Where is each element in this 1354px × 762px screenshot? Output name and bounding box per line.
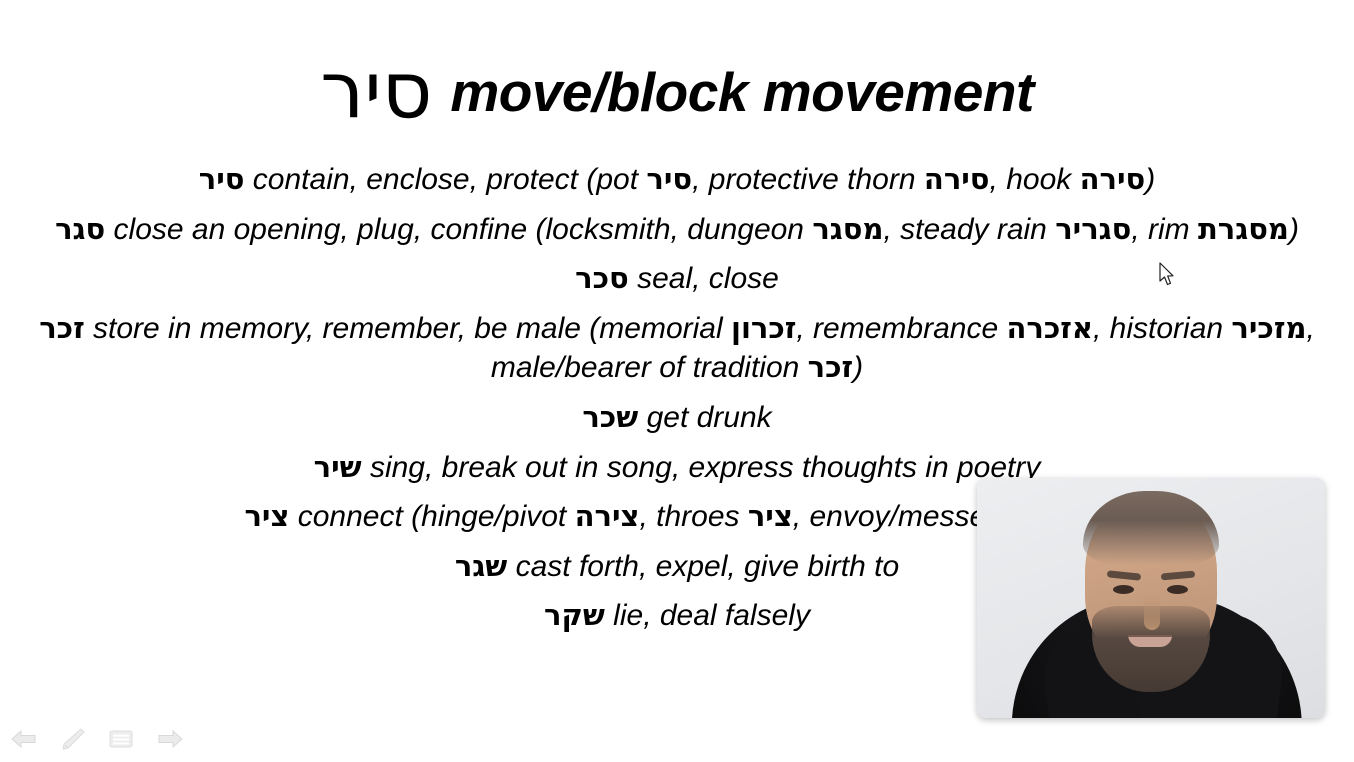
pen-icon	[60, 727, 86, 751]
hebrew-word: סגריר	[1055, 212, 1131, 246]
english-gloss: , throes	[639, 500, 747, 533]
hebrew-word: אזכרה	[1006, 311, 1093, 345]
slide-title: סירmove/block movement	[0, 52, 1354, 130]
hebrew-word: זכרון	[731, 311, 796, 345]
hebrew-word: ציר	[244, 499, 289, 533]
root-entry: זכר store in memory, remember, be male (…	[36, 309, 1318, 388]
root-entry: סיר contain, enclose, protect (pot סיר, …	[36, 160, 1318, 200]
root-entry: שכר get drunk	[36, 398, 1318, 438]
english-gloss: )	[853, 351, 863, 384]
english-gloss: )	[1289, 213, 1299, 246]
english-gloss: , hook	[990, 163, 1080, 196]
hebrew-word: סגר	[55, 212, 105, 246]
hebrew-word: שגר	[455, 549, 507, 583]
english-gloss: cast forth, expel, give birth to	[507, 550, 899, 583]
presentation-slide: סירmove/block movement סיר contain, encl…	[0, 0, 1354, 762]
hebrew-word: סכר	[575, 261, 629, 295]
english-gloss: close an opening, plug, confine (locksmi…	[105, 213, 812, 246]
english-gloss: , historian	[1093, 312, 1231, 345]
presenter-eye-left	[1113, 585, 1134, 594]
english-gloss: )	[1145, 163, 1155, 196]
root-entry: סגר close an opening, plug, confine (loc…	[36, 210, 1318, 250]
root-entry: סכר seal, close	[36, 259, 1318, 299]
english-gloss: , rim	[1131, 213, 1198, 246]
title-hebrew-root: סיר	[320, 46, 432, 136]
right-arrow-icon	[156, 728, 184, 750]
presenter-nose	[1144, 594, 1160, 630]
hebrew-word: סירה	[1080, 162, 1146, 196]
pen-tool-button[interactable]	[60, 726, 86, 752]
hebrew-word: שקר	[544, 598, 605, 632]
hebrew-word: מסגר	[812, 212, 883, 246]
previous-slide-button[interactable]	[10, 726, 38, 752]
hebrew-word: ציר	[748, 499, 793, 533]
left-arrow-icon	[10, 728, 38, 750]
hebrew-word: שיר	[314, 450, 362, 484]
english-gloss: get drunk	[638, 401, 771, 434]
hebrew-word: זכר	[808, 350, 854, 384]
hebrew-word: שכר	[582, 400, 638, 434]
next-slide-button[interactable]	[156, 726, 184, 752]
hebrew-word: מסגרת	[1198, 212, 1289, 246]
english-gloss: lie, deal falsely	[605, 599, 810, 632]
presenter-mouth	[1128, 635, 1172, 647]
hebrew-word: צירה	[575, 499, 640, 533]
presenter-eye-right	[1167, 585, 1188, 594]
hebrew-word: סיר	[199, 162, 245, 196]
hebrew-word: סיר	[646, 162, 692, 196]
english-gloss: contain, enclose, protect (pot	[244, 163, 646, 196]
menu-button[interactable]	[108, 726, 134, 752]
english-gloss: sing, break out in song, express thought…	[362, 451, 1041, 484]
hebrew-word: זכר	[39, 311, 85, 345]
hamburger-menu-icon	[108, 728, 134, 750]
english-gloss: store in memory, remember, be male (memo…	[85, 312, 731, 345]
hebrew-word: מזכיר	[1231, 311, 1306, 345]
english-gloss: seal, close	[629, 262, 779, 295]
english-gloss: , protective thorn	[692, 163, 924, 196]
presenter-video-overlay[interactable]	[977, 478, 1325, 718]
hebrew-word: סירה	[924, 162, 990, 196]
english-gloss: , steady rain	[883, 213, 1055, 246]
english-gloss: connect (hinge/pivot	[289, 500, 574, 533]
presenter-toolbar	[0, 716, 180, 762]
title-english-gloss: move/block movement	[450, 61, 1033, 123]
english-gloss: , remembrance	[796, 312, 1006, 345]
